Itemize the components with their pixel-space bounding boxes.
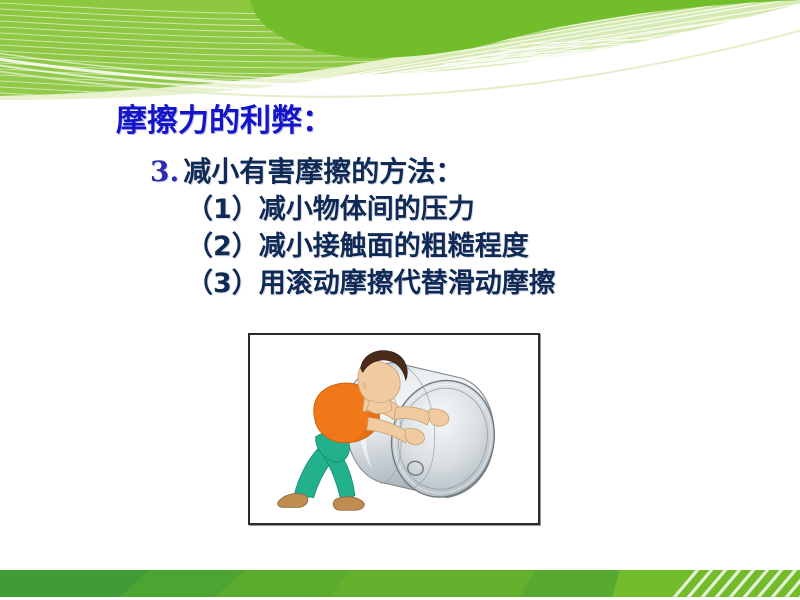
top-decorative-banner [0,0,800,110]
list-item-main-label: 减小有害摩擦的方法： [183,155,463,188]
list-item-sub-3: （3）用滚动摩擦代替滑动摩擦 [186,270,556,297]
banner-stripe-fan [0,0,800,110]
bottom-decorative-bar [0,570,800,600]
footer-panel-4 [330,570,535,597]
banner-dark-blob [0,0,800,110]
banner-light-wash [0,0,800,100]
illustration-frame [248,333,540,525]
page-title: 摩擦力的利弊： [116,106,333,137]
list-item-sub-1: （1）减小物体间的压力 [186,196,475,223]
footer-panel-5 [520,570,620,597]
list-item-main-number: 3. [150,155,179,188]
banner-main-body [0,0,800,110]
list-item-sub-2: （2）减小接触面的粗糙程度 [186,233,529,260]
banner-pale-ribbon [0,10,800,97]
illustration-person-rolling-barrel [250,335,538,523]
list-item-main: 3.减小有害摩擦的方法： [150,158,463,186]
slide-canvas: 摩擦力的利弊： 3.减小有害摩擦的方法： （1）减小物体间的压力 （2）减小接触… [0,0,800,600]
